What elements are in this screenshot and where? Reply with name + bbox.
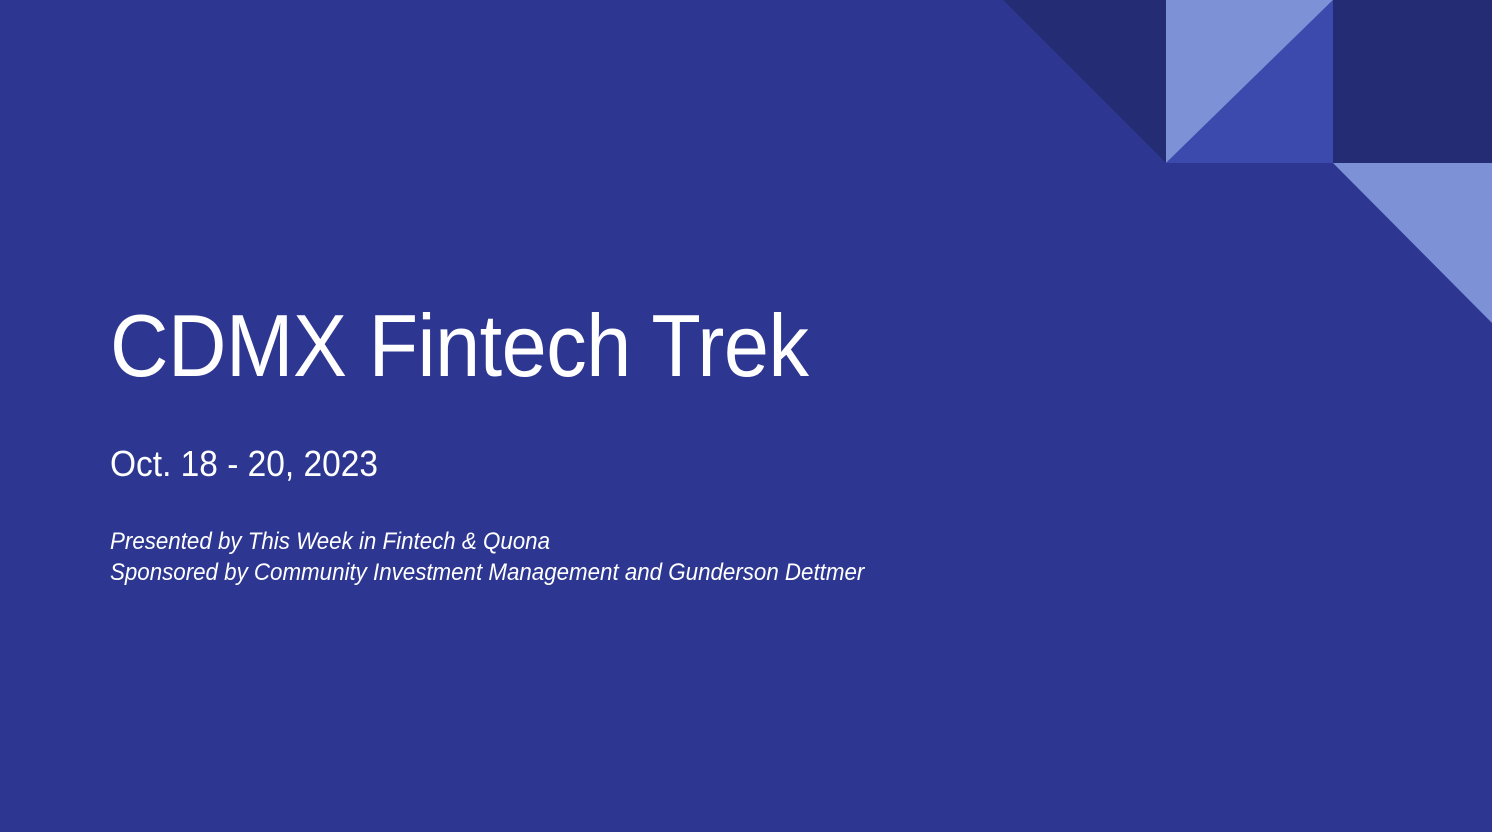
credits-block: Presented by This Week in Fintech & Quon… bbox=[110, 486, 1372, 588]
sponsored-by-line: Sponsored by Community Investment Manage… bbox=[110, 557, 1284, 588]
dark-navy-right-rectangle bbox=[1333, 0, 1492, 163]
dark-navy-upper-triangle bbox=[1003, 0, 1166, 163]
light-periwinkle-square-upper-left-triangle bbox=[1166, 0, 1333, 163]
medium-blue-square-lower-right-triangle bbox=[1166, 0, 1333, 163]
event-date: Oct. 18 - 20, 2023 bbox=[110, 393, 1284, 485]
presented-by-line: Presented by This Week in Fintech & Quon… bbox=[110, 526, 1284, 557]
presentation-slide: CDMX Fintech Trek Oct. 18 - 20, 2023 Pre… bbox=[0, 0, 1492, 832]
page-title: CDMX Fintech Trek bbox=[110, 298, 1271, 393]
slide-content: CDMX Fintech Trek Oct. 18 - 20, 2023 Pre… bbox=[110, 298, 1372, 588]
